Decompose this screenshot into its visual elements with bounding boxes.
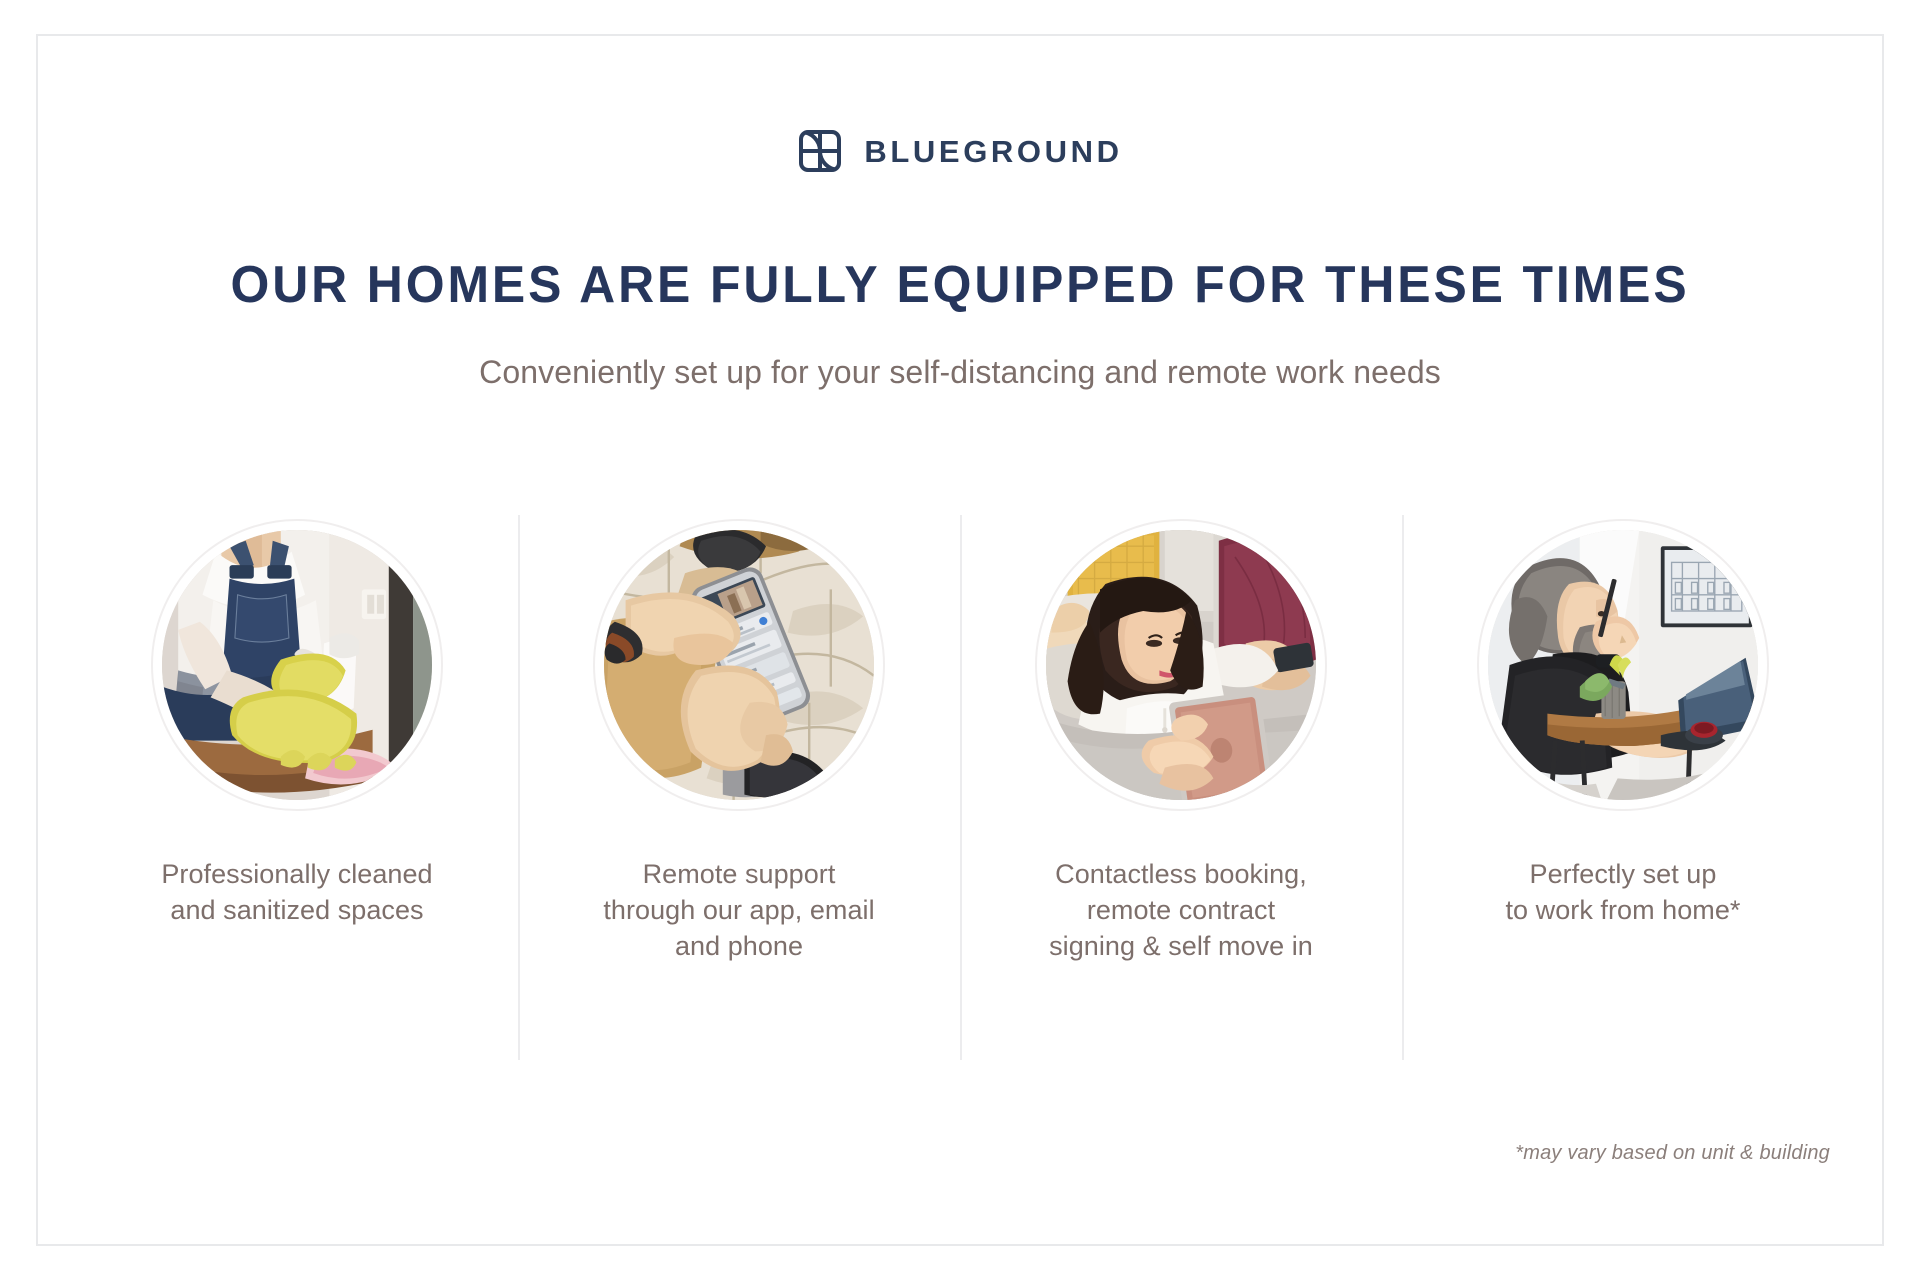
photo-ring-1: [151, 519, 443, 811]
brand-wordmark: BLUEGROUND: [864, 136, 1122, 167]
feature-caption: Contactless booking, remote contract sig…: [1049, 857, 1313, 965]
feature-caption: Professionally cleaned and sanitized spa…: [161, 857, 432, 929]
photo-contactless-booking-tablet: [1046, 530, 1316, 800]
feature-column-contactless-booking: Contactless booking, remote contract sig…: [960, 515, 1402, 1060]
footnote-disclaimer: *may vary based on unit & building: [1515, 1142, 1830, 1165]
photo-ring-2: [593, 519, 885, 811]
feature-caption: Remote support through our app, email an…: [603, 857, 874, 965]
photo-remote-support-phone: [604, 530, 874, 800]
blueground-square-logo-icon: [797, 128, 843, 174]
page-subtitle: Conveniently set up for your self-distan…: [0, 352, 1920, 394]
feature-column-work-from-home: Perfectly set up to work from home*: [1402, 515, 1844, 1060]
promo-page: BLUEGROUND OUR HOMES ARE FULLY EQUIPPED …: [0, 0, 1920, 1280]
page-title: OUR HOMES ARE FULLY EQUIPPED FOR THESE T…: [38, 258, 1881, 313]
feature-column-remote-support: Remote support through our app, email an…: [518, 515, 960, 1060]
photo-work-from-home-desk: [1488, 530, 1758, 800]
feature-caption: Perfectly set up to work from home*: [1506, 857, 1741, 929]
brand-lockup: BLUEGROUND: [0, 128, 1920, 174]
photo-ring-3: [1035, 519, 1327, 811]
photo-professional-cleaning: [162, 530, 432, 800]
photo-ring-4: [1477, 519, 1769, 811]
feature-column-cleaning: Professionally cleaned and sanitized spa…: [76, 515, 518, 1060]
feature-columns: Professionally cleaned and sanitized spa…: [76, 515, 1844, 1060]
